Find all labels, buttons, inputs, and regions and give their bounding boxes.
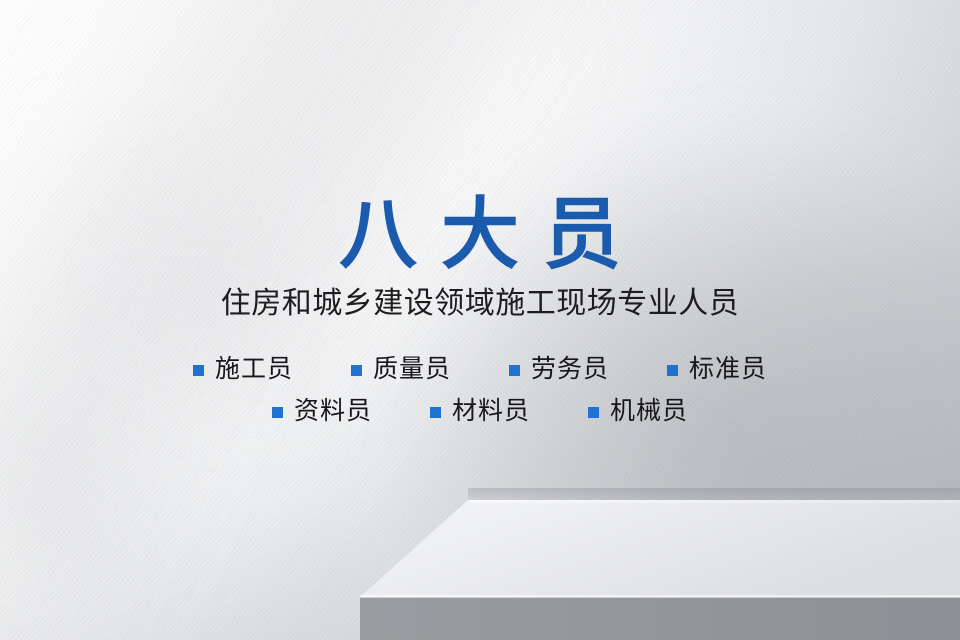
role-label: 机械员 bbox=[610, 396, 688, 426]
role-row-one: 施工员 质量员 劳务员 标准员 bbox=[0, 348, 960, 390]
role-list: 施工员 质量员 劳务员 标准员 资料员 bbox=[0, 348, 960, 432]
role-item-zhiliangyuan[interactable]: 质量员 bbox=[351, 354, 451, 384]
role-label: 材料员 bbox=[452, 396, 530, 426]
page-title: 八大员 bbox=[0, 186, 960, 282]
role-row-two: 资料员 材料员 机械员 bbox=[0, 390, 960, 432]
role-label: 标准员 bbox=[689, 354, 767, 384]
square-bullet-icon bbox=[351, 365, 362, 376]
square-bullet-icon bbox=[509, 365, 520, 376]
role-item-biaozhunyuan[interactable]: 标准员 bbox=[667, 354, 767, 384]
square-bullet-icon bbox=[430, 407, 441, 418]
role-label: 劳务员 bbox=[531, 354, 609, 384]
role-label: 施工员 bbox=[215, 354, 293, 384]
poster-canvas: 八大员 住房和城乡建设领域施工现场专业人员 施工员 质量员 劳务员 bbox=[0, 0, 960, 640]
role-item-shigongyuan[interactable]: 施工员 bbox=[193, 354, 293, 384]
role-item-cailiaoyuan[interactable]: 材料员 bbox=[430, 396, 530, 426]
role-label: 质量员 bbox=[373, 354, 451, 384]
square-bullet-icon bbox=[193, 365, 204, 376]
page-subtitle: 住房和城乡建设领域施工现场专业人员 bbox=[0, 286, 960, 322]
square-bullet-icon bbox=[272, 407, 283, 418]
square-bullet-icon bbox=[667, 365, 678, 376]
square-bullet-icon bbox=[588, 407, 599, 418]
poster-content: 八大员 住房和城乡建设领域施工现场专业人员 施工员 质量员 劳务员 bbox=[0, 0, 960, 640]
role-item-laowuyuan[interactable]: 劳务员 bbox=[509, 354, 609, 384]
role-item-ziliaoyuan[interactable]: 资料员 bbox=[272, 396, 372, 426]
role-item-jixieyuan[interactable]: 机械员 bbox=[588, 396, 688, 426]
role-label: 资料员 bbox=[294, 396, 372, 426]
